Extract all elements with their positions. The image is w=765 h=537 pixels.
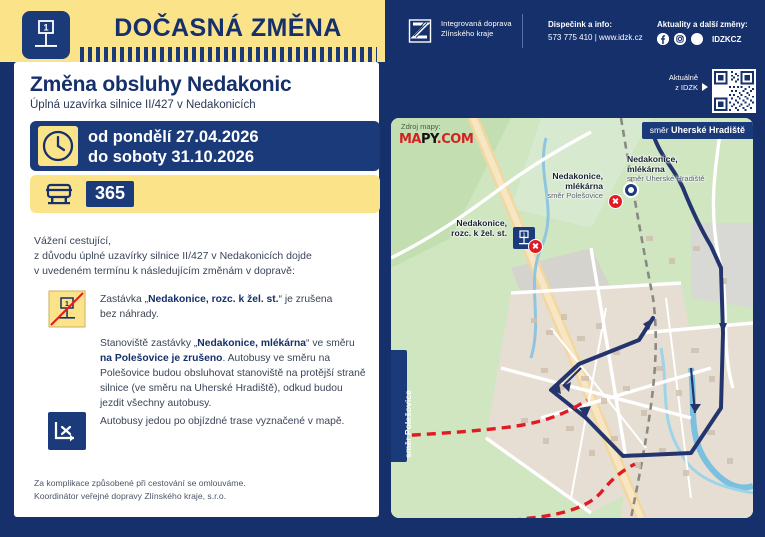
map-label-mlekarna-uh: Nedakonice, mlékárna směr Uherské Hradiš… bbox=[627, 154, 705, 184]
threads-icon[interactable] bbox=[691, 33, 703, 45]
stop-cancelled-badge-marker[interactable] bbox=[608, 194, 623, 209]
qr-label: Aktuálně z IDZK bbox=[650, 73, 698, 93]
change-item-2-text: Stanoviště zastávky „Nedakonice, mlékárn… bbox=[100, 336, 368, 411]
card-footer: Za komplikace způsobené při cestování se… bbox=[34, 477, 364, 502]
dispatch-label: Dispečink a info: bbox=[548, 20, 612, 29]
instagram-icon[interactable] bbox=[674, 33, 686, 45]
page-title: DOČASNÁ ZMĚNA bbox=[78, 14, 378, 42]
stop-name-2: Nedakonice, mlékárna bbox=[197, 338, 306, 349]
idzk-logo-icon bbox=[407, 18, 433, 44]
svg-text:1: 1 bbox=[523, 232, 526, 238]
map-label-rozc-zel-st: Nedakonice, rozc. k žel. st. bbox=[391, 218, 507, 238]
map-label-2-sub: směr Polešovice bbox=[473, 191, 603, 201]
mapy-logo-b: PY bbox=[421, 132, 437, 147]
footer-line1: Za komplikace způsobené při cestování se… bbox=[34, 477, 364, 490]
change-item-3-text: Autobusy jedou po objízdné trase vyznače… bbox=[100, 414, 368, 429]
stop-direction-2: na Polešovice je zrušeno bbox=[100, 353, 222, 364]
idzk-brand-line1: Integrovaná doprava bbox=[441, 19, 512, 29]
map-label-mlekarna-pol: Nedakonice, mlékárna směr Polešovice bbox=[473, 171, 603, 201]
side-ribbon-label: směr Polešovice bbox=[403, 390, 413, 458]
validity-band: od pondělí 27.04.2026 do soboty 31.10.20… bbox=[30, 121, 380, 171]
map-label-3-line2: rozc. k žel. st. bbox=[451, 228, 507, 238]
change-item-1-text: Zastávka „Nedakonice, rozc. k žel. st.“ … bbox=[100, 292, 368, 322]
qr-block[interactable]: Aktuálně z IDZK bbox=[650, 68, 758, 114]
poster-root: 1 DOČASNÁ ZMĚNA Integrovaná doprava Zlín… bbox=[0, 0, 765, 537]
striped-divider bbox=[80, 47, 377, 62]
map-label-2-line2: mlékárna bbox=[565, 181, 603, 191]
social-handle: IDZKCZ bbox=[712, 35, 741, 44]
map-label-1-line2: mlékárna bbox=[627, 164, 665, 174]
ribbon-prefix: směr bbox=[650, 125, 671, 135]
mapy-logo-a: MA bbox=[399, 132, 421, 147]
card-title: Změna obsluhy Nedakonic bbox=[30, 73, 291, 97]
header-brand-bar: Integrovaná doprava Zlínského kraje Disp… bbox=[385, 0, 765, 62]
svg-text:1: 1 bbox=[43, 23, 48, 33]
detour-map[interactable]: Zdroj mapy: MAPY.COM směr Uherské Hradiš… bbox=[391, 118, 753, 518]
info-card: Změna obsluhy Nedakonic Úplná uzavírka s… bbox=[14, 62, 379, 517]
dispatch-info: Dispečink a info: 573 775 410 | www.idzk… bbox=[548, 18, 643, 44]
line-band: 365 bbox=[30, 175, 380, 213]
news-label: Aktuality a další změny: bbox=[657, 18, 748, 31]
footer-line2: Koordinátor veřejné dopravy Zlínského kr… bbox=[34, 490, 364, 503]
qr-label-line1: Aktuálně bbox=[650, 73, 698, 83]
direction-ribbon-uh: směr Uherské Hradiště bbox=[642, 122, 753, 139]
validity-dates: od pondělí 27.04.2026 do soboty 31.10.20… bbox=[88, 127, 259, 167]
direction-ribbon-polesovice: směr Polešovice bbox=[391, 350, 407, 462]
ribbon-place: Uherské Hradiště bbox=[671, 125, 745, 135]
map-label-1-sub: směr Uherské Hradiště bbox=[627, 174, 705, 184]
map-label-2-line1: Nedakonice, bbox=[552, 171, 603, 181]
card-subtitle: Úplná uzavírka silnice II/427 v Nedakoni… bbox=[30, 99, 256, 111]
stop-cancelled-sign-x-badge[interactable] bbox=[528, 239, 543, 254]
header-divider bbox=[522, 14, 523, 48]
stop-active-dot-marker[interactable] bbox=[623, 182, 639, 198]
facebook-icon[interactable] bbox=[657, 33, 669, 45]
news-label-text: Aktuality a další změny: bbox=[657, 20, 748, 29]
idzk-brand-name: Integrovaná doprava Zlínského kraje bbox=[441, 19, 512, 39]
map-label-1-line1: Nedakonice, bbox=[627, 154, 678, 164]
dispatch-value[interactable]: 573 775 410 | www.idzk.cz bbox=[548, 31, 643, 44]
line-number-badge: 365 bbox=[86, 181, 134, 207]
detour-icon bbox=[48, 412, 86, 450]
intro-text: Vážení cestující, z důvodu úplné uzavírk… bbox=[34, 234, 364, 279]
clock-icon bbox=[38, 126, 78, 166]
social-links[interactable]: IDZKCZ bbox=[657, 33, 741, 45]
bus-stop-sign-icon: 1 bbox=[22, 11, 70, 59]
mapy-logo-c: .COM bbox=[437, 132, 473, 147]
qr-arrow-icon bbox=[702, 83, 708, 91]
idzk-brand-line2: Zlínského kraje bbox=[441, 29, 512, 39]
left-navy-strip bbox=[0, 62, 14, 537]
validity-from: od pondělí 27.04.2026 bbox=[88, 127, 259, 147]
map-source-label: Zdroj mapy: bbox=[401, 122, 441, 131]
bus-icon bbox=[44, 182, 74, 206]
validity-to: do soboty 31.10.2026 bbox=[88, 147, 259, 167]
qr-label-line2: z IDZK bbox=[650, 83, 698, 93]
qr-code-icon[interactable] bbox=[712, 69, 756, 113]
stop-name-1: Nedakonice, rozc. k žel. st. bbox=[148, 294, 278, 305]
stop-cancelled-icon: 1 bbox=[48, 290, 86, 328]
mapy-logo: MAPY.COM bbox=[399, 132, 473, 147]
map-label-3-line1: Nedakonice, bbox=[456, 218, 507, 228]
